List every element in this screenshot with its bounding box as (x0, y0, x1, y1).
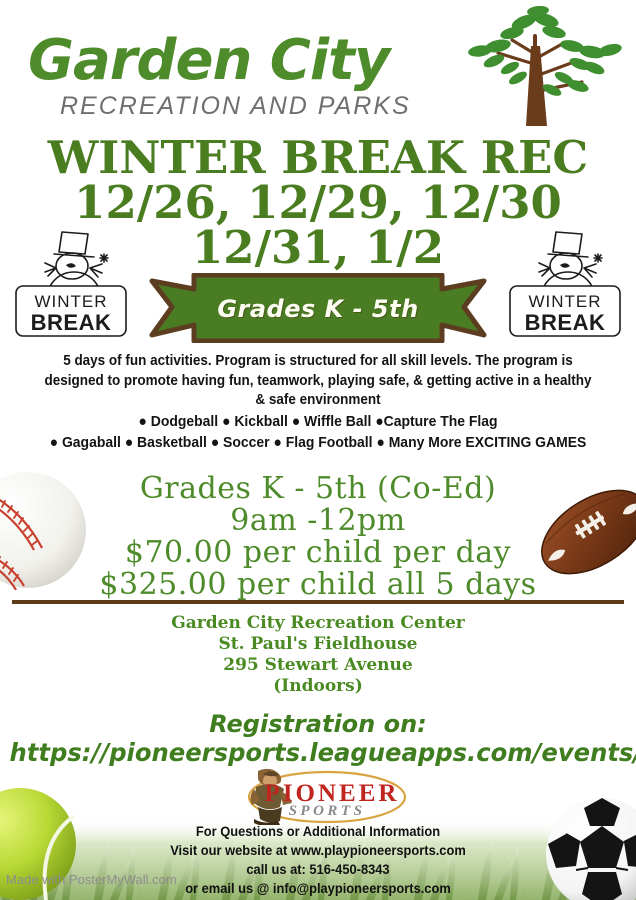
poster-root: Garden City RECREATION AND PARKS (0, 0, 636, 900)
snowman-left-line1: WINTER (34, 292, 107, 311)
venue-line-3: 295 Stewart Avenue (0, 655, 636, 676)
brand-subtitle: RECREATION AND PARKS (60, 92, 448, 121)
page-title: Garden City (28, 32, 448, 90)
brand-block: Garden City RECREATION AND PARKS (28, 32, 448, 121)
pioneer-sports-logo: PIONEER SPORTS (232, 765, 407, 825)
tree-icon (454, 6, 624, 132)
snowman-right-line2: BREAK (525, 310, 606, 335)
registration-block: Registration on: https://pioneersports.l… (0, 710, 636, 768)
footer-line-1: For Questions or Additional Information (25, 822, 610, 841)
banner-label: Grades K - 5th (148, 273, 488, 343)
venue-block: Garden City Recreation Center St. Paul's… (0, 613, 636, 697)
registration-url-link[interactable]: https://pioneersports.leagueapps.com/eve… (10, 738, 627, 768)
snowman-sign-left-icon: WINTER BREAK (12, 228, 130, 340)
snowman-sign-right-icon: WINTER BREAK (506, 228, 624, 340)
venue-line-1: Garden City Recreation Center (0, 613, 636, 634)
poster-header: Garden City RECREATION AND PARKS (0, 0, 636, 140)
games-line-2: ● Gagaball ● Basketball ● Soccer ● Flag … (30, 434, 607, 453)
footer-line-2: Visit our website at www.playpioneerspor… (25, 841, 610, 860)
section-divider (12, 600, 624, 604)
snowman-left-line2: BREAK (31, 310, 112, 335)
description-line-3: & safe environment (30, 391, 607, 410)
title-line-2: 12/26, 12/29, 12/30 (0, 182, 636, 225)
postermywall-watermark: Made with PosterMyWall.com (6, 872, 177, 887)
venue-line-2: St. Paul's Fieldhouse (0, 634, 636, 655)
title-line-1: WINTER BREAK REC (0, 137, 636, 180)
program-description: 5 days of fun activities. Program is str… (8, 352, 628, 453)
games-line-1: ● Dodgeball ● Kickball ● Wiffle Ball ●Ca… (30, 413, 607, 432)
snowman-right-line1: WINTER (528, 292, 601, 311)
description-line-2: designed to promote having fun, teamwork… (30, 372, 607, 391)
venue-line-4: (Indoors) (0, 676, 636, 697)
registration-heading: Registration on: (0, 710, 636, 738)
grades-banner: Grades K - 5th (148, 273, 488, 343)
description-line-1: 5 days of fun activities. Program is str… (30, 352, 607, 371)
pioneer-logo-tagline: SPORTS (289, 803, 366, 819)
football-icon (534, 478, 636, 586)
